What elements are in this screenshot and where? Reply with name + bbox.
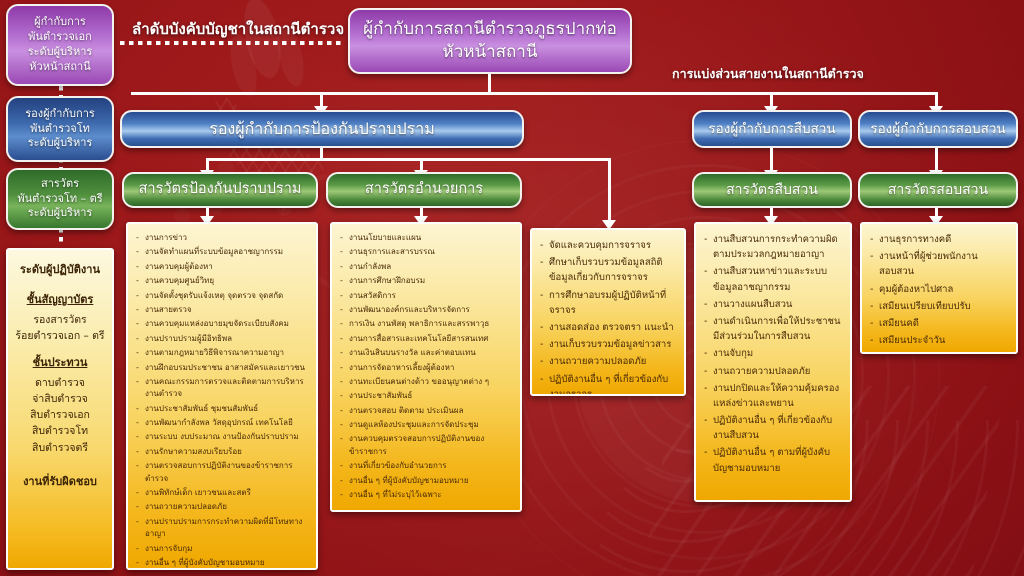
duty-item: งานอื่น ๆ ที่ผู้บังคับบัญชามอบหมาย	[340, 475, 513, 487]
duty-item: ปฏิบัติงานอื่น ๆ ตามที่ผู้บังคับบัญชามอบ…	[704, 445, 843, 475]
rank-panel-item: รองสารวัตร	[14, 312, 106, 328]
duty-item: งานหน้าที่ผู้ช่วยพนักงานสอบสวน	[870, 249, 1009, 279]
rank-line: พันตำรวจโท	[30, 122, 90, 137]
rank-panel-noncom-header: ชั้นประทวน	[14, 353, 106, 371]
duty-item: งานที่เกี่ยวข้องกับอำนวยการ	[340, 460, 513, 472]
rank-box-superintendent[interactable]: ผู้กำกับการ พันตำรวจเอก ระดับผู้บริหาร ห…	[6, 4, 114, 86]
duty-item: งานตรวจสอบ ติดตาม ประเมินผล	[340, 405, 513, 417]
duty-item: งานพิทักษ์เด็ก เยาวชนและสตรี	[136, 487, 309, 499]
node-deputy-investigation[interactable]: รองผู้กำกับการสืบสวน	[692, 110, 852, 148]
duty-item: งานถวายความปลอดภัย	[540, 354, 677, 369]
connector-prevention-bus	[206, 158, 610, 161]
org-chart-canvas: ลำดับบังคับบัญชาในสถานีตำรวจ การแบ่งส่วน…	[0, 0, 1024, 576]
duty-item: เสมียนเปรียบเทียบปรับ	[870, 299, 1009, 314]
rank-panel-item: จ่าสิบตำรวจ	[14, 391, 106, 407]
duty-item: งานถวายความปลอดภัย	[136, 501, 309, 513]
rank-line: สารวัตร	[41, 177, 79, 192]
duty-item: งานปกปิดและให้ความคุ้มครองแหล่งข่าวและพย…	[704, 381, 843, 411]
duty-item: งานควบคุมผู้ต้องหา	[136, 261, 309, 273]
duty-item: จัดและควบคุมการจราจร	[540, 238, 677, 253]
duty-item: งานดำเนินการเพื่อให้ประชาชนมีส่วนร่วมในก…	[704, 314, 843, 344]
duty-item: งานจัดตั้งชุดรับแจ้งเหตุ จุดตรวจ จุดสกัด	[136, 290, 309, 302]
duty-item: งานธุรการและสารบรรณ	[340, 246, 513, 258]
duty-item: ปฏิบัติงานอื่น ๆ ที่เกี่ยวข้องกับงานจราจ…	[540, 372, 677, 397]
rank-panel-item: สิบตำรวจโท	[14, 423, 106, 439]
node-line: ผู้กำกับการสถานีตำรวจภูธรปากท่อ	[363, 18, 617, 41]
duty-item: งานดูแลห้องประชุมและการจัดประชุม	[340, 419, 513, 431]
rank-panel-footer: งานที่รับผิดชอบ	[14, 472, 106, 490]
dotted-connector-rank-3	[59, 228, 63, 244]
duty-item: งานสืบสวนการกระทำความผิดตามประมวลกฎหมายอ…	[704, 232, 843, 262]
duty-item: งานการจัดอาหารเลี้ยงผู้ต้องหา	[340, 362, 513, 374]
duty-item: การเงิน งานพัสดุ พลาธิการและสรรพาวุธ	[340, 318, 513, 330]
duty-item: งานทะเบียนคนต่างด้าว ขออนุญาตต่าง ๆ	[340, 376, 513, 388]
duty-item: งานธุรการทางคดี	[870, 232, 1009, 247]
duty-item: งานควบคุมศูนย์วิทยุ	[136, 275, 309, 287]
duty-item: งานถวายความปลอดภัย	[704, 364, 843, 379]
duty-item: งานสวัสดิการ	[340, 290, 513, 302]
rank-line: หัวหน้าสถานี	[29, 60, 90, 75]
rank-detail-panel: ระดับผู้ปฏิบัติงาน ชั้นสัญญาบัตร รองสารว…	[6, 248, 114, 570]
duty-item: งานปราบปรามการกระทำความผิดที่มีโทษทางอาญ…	[136, 516, 309, 541]
duty-item: งานการจับกุม	[136, 543, 309, 555]
connector-drop-inspector-inquiry	[935, 148, 938, 172]
duty-item: งานจับกุม	[704, 346, 843, 361]
caption-chain-of-command: ลำดับบังคับบัญชาในสถานีตำรวจ	[132, 17, 344, 41]
duty-item: งานกำลังพล	[340, 261, 513, 273]
caption-work-division: การแบ่งส่วนสายงานในสถานีตำรวจ	[672, 64, 864, 84]
rank-box-inspector[interactable]: สารวัตร พันตำรวจโท – ตรี ระดับผู้บริหาร	[6, 168, 114, 230]
duty-item: งานพัฒนาองค์กรและบริหารจัดการ	[340, 304, 513, 316]
connector-drop-inspector-investigation	[770, 148, 773, 172]
duty-item: เสมียนคดี	[870, 316, 1009, 331]
duty-list-prevention: งานการข่าว งานจัดทำแผนที่ระบบข้อมูลอาชญา…	[136, 232, 309, 569]
rank-line: ระดับผู้บริหาร	[28, 136, 93, 151]
rank-line: ระดับผู้บริหาร	[28, 206, 93, 221]
duty-list-admin: งานนโยบายและแผน งานธุรการและสารบรรณ งานก…	[340, 232, 513, 501]
rank-panel-item: สิบตำรวจเอก	[14, 407, 106, 423]
duty-item: เสมียนประจำวัน	[870, 333, 1009, 348]
rank-box-deputy-superintendent[interactable]: รองผู้กำกับการ พันตำรวจโท ระดับผู้บริหาร	[6, 96, 114, 162]
duty-panel-investigation: งานสืบสวนการกระทำความผิดตามประมวลกฎหมายอ…	[694, 222, 852, 502]
dotted-connector-to-top-node	[120, 41, 342, 45]
duty-item: งานสืบสวนหาข่าวและระบบข้อมูลอาชญากรรม	[704, 264, 843, 294]
duty-list-inquiry: งานธุรการทางคดี งานหน้าที่ผู้ช่วยพนักงาน…	[870, 232, 1009, 354]
duty-item: งานควบคุมแหล่งอบายมุขจัดระเบียบสังคม	[136, 318, 309, 330]
rank-panel-heading: ระดับผู้ปฏิบัติงาน	[14, 260, 106, 278]
duty-item: งานปราบปรามผู้มีอิทธิพล	[136, 333, 309, 345]
rank-line: ผู้กำกับการ	[34, 15, 86, 30]
duty-item: พนักงานสอบสวน	[870, 350, 1009, 354]
duty-panel-admin: งานนโยบายและแผน งานธุรการและสารบรรณ งานก…	[330, 222, 522, 512]
duty-item: งานประชาสัมพันธ์	[340, 390, 513, 402]
node-inspector-inquiry[interactable]: สารวัตรสอบสวน	[858, 172, 1018, 208]
duty-item: งานจัดทำแผนที่ระบบข้อมูลอาชญากรรม	[136, 246, 309, 258]
rank-line: ระดับผู้บริหาร	[28, 45, 93, 60]
duty-panel-prevention: งานการข่าว งานจัดทำแผนที่ระบบข้อมูลอาชญา…	[126, 222, 318, 570]
node-deputy-prevention[interactable]: รองผู้กำกับการป้องกันปราบปราม	[120, 110, 524, 148]
duty-item: งานควบคุมตรวจสอบการปฏิบัติงานของข้าราชกา…	[340, 433, 513, 458]
duty-list-investigation: งานสืบสวนการกระทำความผิดตามประมวลกฎหมายอ…	[704, 232, 843, 476]
duty-item: งานตรวจสอบการปฏิบัติงานของข้าราชการตำรวจ	[136, 460, 309, 485]
duty-item: งานฝึกอบรมประชาชน อาสาสมัครและเยาวชน	[136, 362, 309, 374]
rank-panel-item: สิบตำรวจตรี	[14, 440, 106, 456]
duty-item: งานอื่น ๆ ที่ผู้บังคับบัญชามอบหมาย	[136, 557, 309, 569]
rank-panel-commissioned-header: ชั้นสัญญาบัตร	[14, 290, 106, 308]
duty-item: งานวางแผนสืบสวน	[704, 297, 843, 312]
duty-item: ศึกษาเก็บรวบรวมข้อมูลสถิติข้อมูลเกี่ยวกั…	[540, 255, 677, 285]
rank-panel-item: ดาบตำรวจ	[14, 375, 106, 391]
duty-item: คุมผู้ต้องหาไปศาล	[870, 282, 1009, 297]
connector-drop-traffic	[608, 158, 611, 222]
duty-item: งานตามกฎหมายวิธีพิจารณาความอาญา	[136, 347, 309, 359]
node-station-superintendent[interactable]: ผู้กำกับการสถานีตำรวจภูธรปากท่อ หัวหน้าส…	[348, 8, 632, 74]
rank-line: พันตำรวจโท – ตรี	[17, 192, 102, 207]
node-deputy-inquiry[interactable]: รองผู้กำกับการสอบสวน	[858, 110, 1018, 148]
duty-item: งานการศึกษาฝึกอบรม	[340, 275, 513, 287]
connector-deputy-bus	[131, 92, 937, 95]
duty-list-traffic: จัดและควบคุมการจราจร ศึกษาเก็บรวบรวมข้อม…	[540, 238, 677, 396]
duty-item: งานสายตรวจ	[136, 304, 309, 316]
duty-item: ปฏิบัติงานอื่น ๆ ที่เกี่ยวข้องกับงานสืบส…	[704, 413, 843, 443]
duty-item: งานสอดส่อง ตรวจตรา แนะนำ	[540, 320, 677, 335]
node-inspector-admin[interactable]: สารวัตรอำนวยการ	[326, 172, 522, 208]
duty-item: งานคณะกรรมการตรวจและติดตามการบริหารงานตำ…	[136, 376, 309, 401]
rank-panel-item: ร้อยตำรวจเอก – ตรี	[14, 328, 106, 344]
connector-top-trunk	[488, 74, 491, 94]
rank-line: พันตำรวจเอก	[28, 30, 92, 45]
duty-item: การศึกษาอบรมผู้ปฏิบัติหน้าที่จราจร	[540, 288, 677, 318]
duty-item: งานระบบ งบประมาณ งานป้องกันปราบปราม	[136, 431, 309, 443]
duty-item: งานเงินสินบนรางวัล และค่าตอบแทน	[340, 347, 513, 359]
node-inspector-investigation[interactable]: สารวัตรสืบสวน	[692, 172, 852, 208]
duty-item: งานการข่าว	[136, 232, 309, 244]
duty-item: งานอื่น ๆ ที่ไม่ระบุไว้เฉพาะ	[340, 489, 513, 501]
node-line: หัวหน้าสถานี	[443, 41, 538, 64]
duty-item: งานรักษาความสงบเรียบร้อย	[136, 446, 309, 458]
duty-panel-traffic: จัดและควบคุมการจราจร ศึกษาเก็บรวบรวมข้อม…	[530, 228, 686, 396]
duty-panel-inquiry: งานธุรการทางคดี งานหน้าที่ผู้ช่วยพนักงาน…	[860, 222, 1018, 354]
duty-item: งานการสื่อสารและเทคโนโลยีสารสนเทศ	[340, 333, 513, 345]
duty-item: งานเก็บรวบรวมข้อมูลข่าวสาร	[540, 337, 677, 352]
duty-item: งานประชาสัมพันธ์ ชุมชนสัมพันธ์	[136, 403, 309, 415]
node-inspector-prevention[interactable]: สารวัตรป้องกันปราบปราม	[122, 172, 318, 208]
rank-line: รองผู้กำกับการ	[25, 107, 95, 122]
duty-item: งานนโยบายและแผน	[340, 232, 513, 244]
duty-item: งานพัฒนากำลังพล วัสดุอุปกรณ์ เทคโนโลยี	[136, 417, 309, 429]
